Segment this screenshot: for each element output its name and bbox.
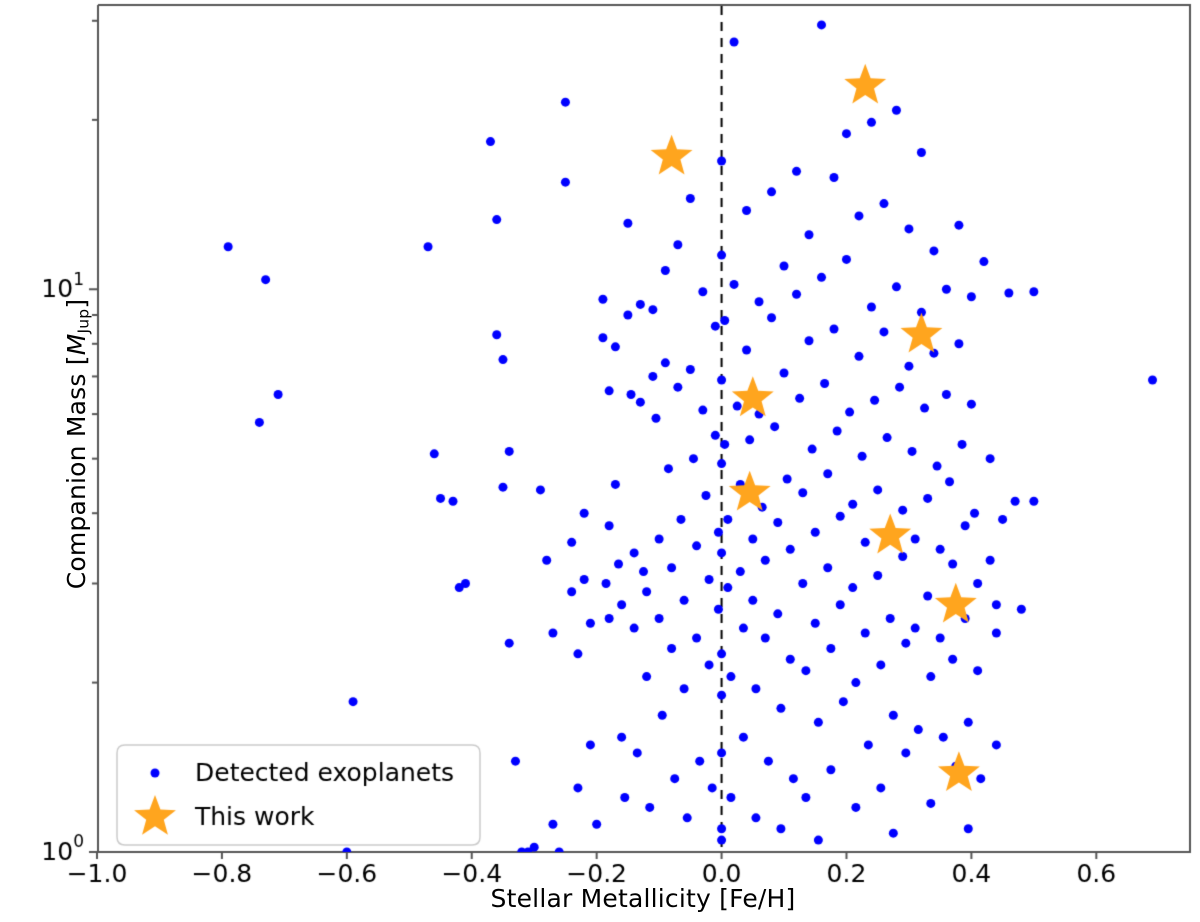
y-axis-label-suffix: ] (62, 299, 91, 309)
y-axis-label-math-sub: Jup (74, 309, 92, 334)
y-axis-label-math-var: M (62, 334, 91, 356)
scatter-plot-canvas (0, 0, 1200, 922)
y-axis-label-prefix: Companion Mass [ (62, 355, 91, 589)
figure-exoplanet-metallicity-mass-scatter: Stellar Metallicity [Fe/H] Companion Mas… (0, 0, 1200, 922)
x-axis-label: Stellar Metallicity [Fe/H] (0, 884, 1200, 913)
y-axis-label: Companion Mass [MJup] (62, 94, 96, 794)
x-axis-label-text: Stellar Metallicity [Fe/H] (405, 884, 796, 913)
